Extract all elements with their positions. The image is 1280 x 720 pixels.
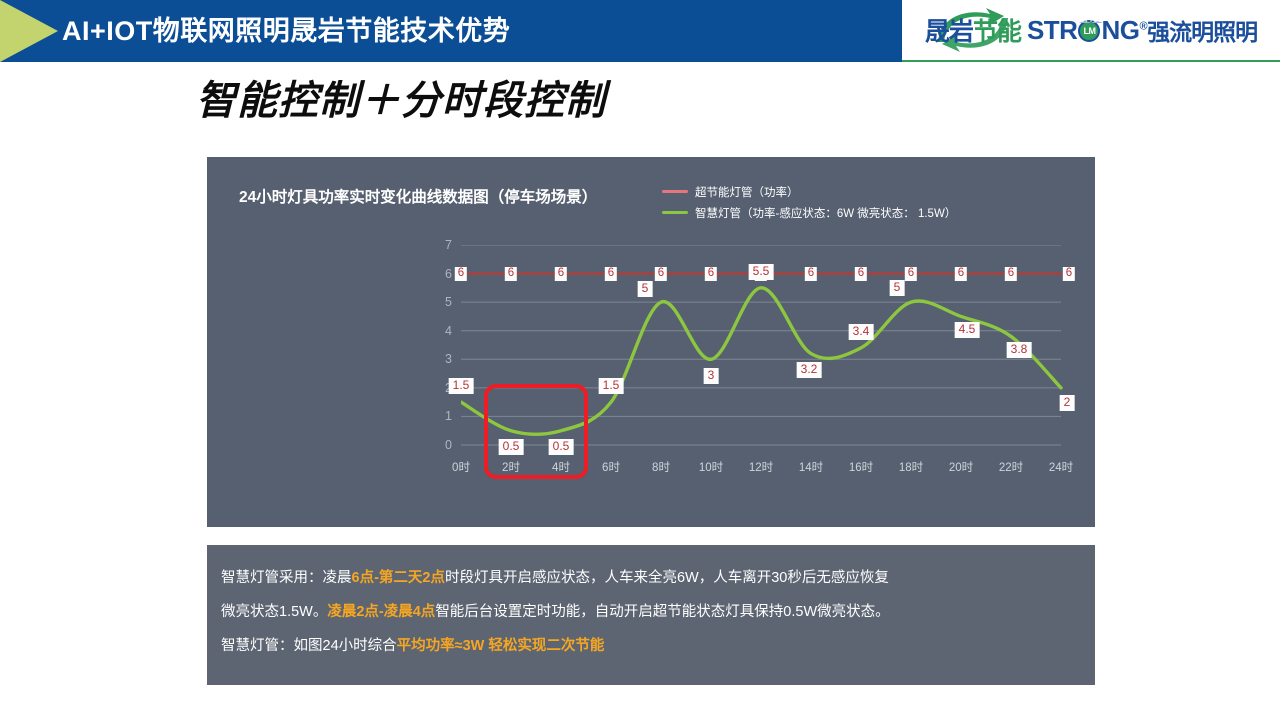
- note-text: 智慧灯管采用：凌晨: [221, 570, 352, 586]
- data-label: 4.5: [955, 322, 980, 338]
- data-label: 6: [1063, 267, 1075, 281]
- data-label: 3: [704, 368, 719, 384]
- note-highlight: 平均功率≈3W: [397, 638, 485, 654]
- note-line-1: 智慧灯管采用：凌晨6点-第二天2点时段灯具开启感应状态，人车来全亮6W，人车离开…: [221, 561, 1081, 595]
- data-label: 6: [605, 267, 617, 281]
- legend-swatch-icon: [662, 190, 688, 193]
- logo-chinese-name: 晟岩节能: [925, 12, 1021, 48]
- data-label: 3.8: [1007, 342, 1032, 358]
- x-axis-tick-label: 18时: [899, 459, 923, 475]
- chart-title: 24小时灯具功率实时变化曲线数据图（停车场场景）: [239, 185, 597, 207]
- data-label: 5.5: [749, 264, 774, 280]
- data-label: 3.4: [849, 324, 874, 340]
- logo-o-text: LM: [1080, 22, 1098, 40]
- x-axis-tick-label: 12时: [749, 459, 773, 475]
- header-title: AI+IOT物联网照明晟岩节能技术优势: [62, 0, 510, 62]
- slide-header: AI+IOT物联网照明晟岩节能技术优势 晟岩节能 STRLMNG® 强流明照明: [0, 0, 1280, 62]
- note-box: 智慧灯管采用：凌晨6点-第二天2点时段灯具开启感应状态，人车来全亮6W，人车离开…: [207, 545, 1095, 685]
- x-axis-tick-label: 16时: [849, 459, 873, 475]
- data-label: 6: [955, 267, 967, 281]
- chevron-icon: [0, 0, 62, 62]
- y-axis-tick-label: 5: [432, 295, 452, 309]
- note-highlight: 轻松实现二次节能: [488, 638, 604, 654]
- note-highlight: 6点-第二天2点: [352, 570, 445, 586]
- data-label: 6: [905, 267, 917, 281]
- legend-swatch-icon: [662, 211, 688, 214]
- y-axis-tick-label: 7: [432, 238, 452, 252]
- note-highlight: 凌晨2点-凌晨4点: [327, 604, 435, 620]
- data-label: 6: [705, 267, 717, 281]
- legend-item: 超节能灯管（功率）: [662, 181, 956, 202]
- data-label: 5: [890, 280, 905, 296]
- highlight-box: [484, 384, 588, 479]
- data-label: 1.5: [599, 378, 624, 394]
- chart-panel: 24小时灯具功率实时变化曲线数据图（停车场场景） 超节能灯管（功率）智慧灯管（功…: [207, 157, 1095, 527]
- logo-brand-post: NG: [1101, 15, 1139, 45]
- note-text: 时段灯具开启感应状态，人车来全亮6W，人车离开30秒后无感应恢复: [445, 570, 889, 586]
- registered-icon: ®: [1139, 20, 1147, 32]
- note-text: 微亮状态1.5W。: [221, 604, 327, 620]
- logo-brand-pre: STR: [1027, 15, 1078, 45]
- x-axis-tick-label: 6时: [602, 459, 620, 475]
- data-label: 6: [655, 267, 667, 281]
- data-label: 6: [805, 267, 817, 281]
- logo-brand-strong: STRLMNG®: [1027, 15, 1147, 46]
- chart-plot-area: 012345670时2时4时6时8时10时12时14时16时18时20时22时2…: [461, 245, 1061, 445]
- slide-root: AI+IOT物联网照明晟岩节能技术优势 晟岩节能 STRLMNG® 强流明照明 …: [0, 0, 1280, 720]
- logo-cn-dark: 晟岩: [925, 18, 973, 46]
- x-axis-tick-label: 14时: [799, 459, 823, 475]
- data-label: 1.5: [449, 378, 474, 394]
- data-label: 6: [1005, 267, 1017, 281]
- fan-icon: [1079, 9, 1103, 23]
- x-axis-tick-label: 22时: [999, 459, 1023, 475]
- y-axis-tick-label: 3: [432, 352, 452, 366]
- data-label: 6: [455, 267, 467, 281]
- note-line-2: 微亮状态1.5W。凌晨2点-凌晨4点智能后台设置定时功能，自动开启超节能状态灯具…: [221, 595, 1081, 629]
- x-axis-tick-label: 8时: [652, 459, 670, 475]
- note-text: 智能后台设置定时功能，自动开启超节能状态灯具保持0.5W微亮状态。: [435, 604, 889, 620]
- logo-brand-chinese: 强流明照明: [1147, 13, 1257, 47]
- x-axis-tick-label: 20时: [949, 459, 973, 475]
- brand-logo-panel: 晟岩节能 STRLMNG® 强流明照明: [902, 0, 1280, 62]
- x-axis-tick-label: 0时: [452, 459, 470, 475]
- data-label: 5: [638, 281, 653, 297]
- legend-label: 智慧灯管（功率-感应状态：6W 微亮状态： 1.5W）: [695, 205, 956, 221]
- data-label: 6: [855, 267, 867, 281]
- page-title: 智能控制＋分时段控制: [196, 68, 606, 126]
- x-axis-tick-label: 10时: [699, 459, 723, 475]
- y-axis-tick-label: 4: [432, 324, 452, 338]
- data-label: 6: [555, 267, 567, 281]
- chart-legend: 超节能灯管（功率）智慧灯管（功率-感应状态：6W 微亮状态： 1.5W）: [662, 181, 956, 223]
- data-label: 6: [505, 267, 517, 281]
- note-text: 智慧灯管：如图24小时综合: [221, 638, 397, 654]
- data-label: 3.2: [797, 362, 822, 378]
- legend-item: 智慧灯管（功率-感应状态：6W 微亮状态： 1.5W）: [662, 202, 956, 223]
- logo-cn-green: 节能: [973, 18, 1021, 46]
- y-axis-tick-label: 0: [432, 438, 452, 452]
- y-axis-tick-label: 6: [432, 267, 452, 281]
- y-axis-tick-label: 1: [432, 409, 452, 423]
- logo-o-mark: LM: [1078, 20, 1100, 42]
- x-axis-tick-label: 24时: [1049, 459, 1073, 475]
- note-line-3: 智慧灯管：如图24小时综合平均功率≈3W 轻松实现二次节能: [221, 629, 1081, 663]
- data-label: 2: [1060, 395, 1075, 411]
- legend-label: 超节能灯管（功率）: [695, 184, 799, 200]
